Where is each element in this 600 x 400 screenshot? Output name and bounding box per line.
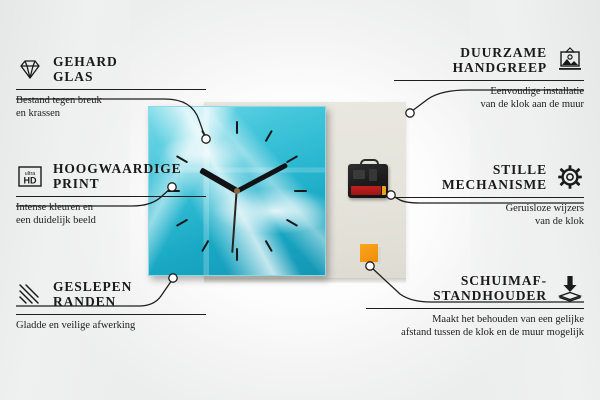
feature-desc-line1: Bestand tegen breuk	[16, 95, 102, 106]
feature-title-line2: GLAS	[53, 69, 93, 84]
clock-tick	[265, 240, 273, 252]
feature-header: GEHARD GLAS	[16, 52, 206, 86]
down-arrow-stack-icon	[556, 274, 584, 302]
clock-tick	[236, 121, 238, 134]
feature-title-line2: MECHANISME	[442, 177, 547, 192]
feature-title-line2: HANDGREEP	[453, 60, 547, 75]
clock-tick	[294, 190, 307, 192]
clock-tick	[201, 240, 209, 252]
feature-divider	[16, 196, 206, 197]
feature-desc-line1: Eenvoudige installatie	[490, 86, 584, 97]
feature-title-line2: RANDEN	[53, 294, 116, 309]
feature-title-line2: PRINT	[53, 176, 100, 191]
clock-tick	[286, 155, 298, 163]
feature-title: HOOGWAARDIGE PRINT	[53, 161, 182, 191]
feature-title-line1: GESLEPEN	[53, 279, 132, 294]
feature-title-line2: STANDHOUDER	[433, 288, 547, 303]
infographic-canvas: GEHARD GLAS Bestand tegen breuk en krass…	[0, 0, 600, 400]
diagonal-lines-icon	[16, 280, 44, 308]
feature-description: Bestand tegen breuk en krassen	[16, 95, 206, 120]
mechanism-detail	[369, 169, 377, 181]
feature-title: GEHARD GLAS	[53, 54, 118, 84]
feature-desc-line1: Geruisloze wijzers	[506, 203, 584, 214]
feature-divider	[16, 89, 206, 90]
feature-description: Intense kleuren en een duidelijk beeld	[16, 202, 206, 227]
ultra-hd-icon: ultra HD	[16, 162, 44, 190]
feature-divider	[394, 80, 584, 81]
clock-tick	[236, 248, 238, 261]
quartz-mechanism	[348, 164, 388, 198]
clock-second-hand	[232, 191, 238, 253]
clock-tick	[265, 130, 273, 142]
feature-geslepen-randen: GESLEPEN RANDEN Gladde en veilige afwerk…	[16, 277, 206, 333]
feature-description: Maakt het behouden van een gelijke afsta…	[366, 314, 584, 339]
clock-tick	[201, 130, 209, 142]
mechanism-detail	[353, 170, 365, 179]
feature-title-line1: GEHARD	[53, 54, 118, 69]
feature-desc-line2: afstand tussen de klok en de muur mogeli…	[401, 327, 584, 338]
clock-center-cap	[234, 188, 240, 194]
feature-desc-line2: van de klok aan de muur	[480, 99, 584, 110]
feature-header: STILLE MECHANISME	[394, 160, 584, 194]
feature-title: DUURZAME HANDGREEP	[453, 45, 547, 75]
feature-schuimafstandhouder: SCHUIMAF- STANDHOUDER Maakt het behouden…	[366, 271, 584, 339]
feature-header: SCHUIMAF- STANDHOUDER	[366, 271, 584, 305]
mechanism-battery	[351, 186, 381, 195]
feature-header: ultra HD HOOGWAARDIGE PRINT	[16, 159, 206, 193]
feature-title-line1: STILLE	[493, 162, 547, 177]
feature-title-line1: HOOGWAARDIGE	[53, 161, 182, 176]
diamond-icon	[16, 55, 44, 83]
feature-header: DUURZAME HANDGREEP	[394, 43, 584, 77]
feature-stille-mechanisme: STILLE MECHANISME Geruisloze wijzers van…	[394, 160, 584, 228]
picture-frame-icon	[556, 46, 584, 74]
feature-gehard-glas: GEHARD GLAS Bestand tegen breuk en krass…	[16, 52, 206, 120]
feature-desc-line1: Intense kleuren en	[16, 202, 93, 213]
feature-divider	[366, 308, 584, 309]
feature-desc-line1: Gladde en veilige afwerking	[16, 320, 135, 331]
feature-desc-line2: een duidelijk beeld	[16, 215, 96, 226]
feature-hoogwaardige-print: ultra HD HOOGWAARDIGE PRINT Intense kleu…	[16, 159, 206, 227]
svg-text:HD: HD	[24, 176, 37, 186]
foam-standoff-face	[360, 244, 378, 262]
feature-description: Geruisloze wijzers van de klok	[394, 203, 584, 228]
feature-title: GESLEPEN RANDEN	[53, 279, 132, 309]
feature-title-line1: DUURZAME	[460, 45, 547, 60]
feature-duurzame-handgreep: DUURZAME HANDGREEP Eenvoudige installati…	[394, 43, 584, 111]
feature-divider	[16, 314, 206, 315]
feature-title-line1: SCHUIMAF-	[461, 273, 547, 288]
gear-icon	[556, 163, 584, 191]
feature-title: STILLE MECHANISME	[442, 162, 547, 192]
clock-minute-hand	[236, 163, 288, 194]
foam-standoff	[360, 244, 378, 262]
clock-tick	[286, 219, 298, 227]
feature-header: GESLEPEN RANDEN	[16, 277, 206, 311]
mechanism-battery-tip	[382, 186, 386, 195]
feature-desc-line2: van de klok	[535, 216, 584, 227]
feature-description: Gladde en veilige afwerking	[16, 320, 206, 333]
mechanism-body	[348, 164, 388, 198]
feature-desc-line1: Maakt het behouden van een gelijke	[432, 314, 584, 325]
feature-description: Eenvoudige installatie van de klok aan d…	[394, 86, 584, 111]
feature-title: SCHUIMAF- STANDHOUDER	[433, 273, 547, 303]
feature-divider	[394, 197, 584, 198]
feature-desc-line2: en krassen	[16, 108, 60, 119]
